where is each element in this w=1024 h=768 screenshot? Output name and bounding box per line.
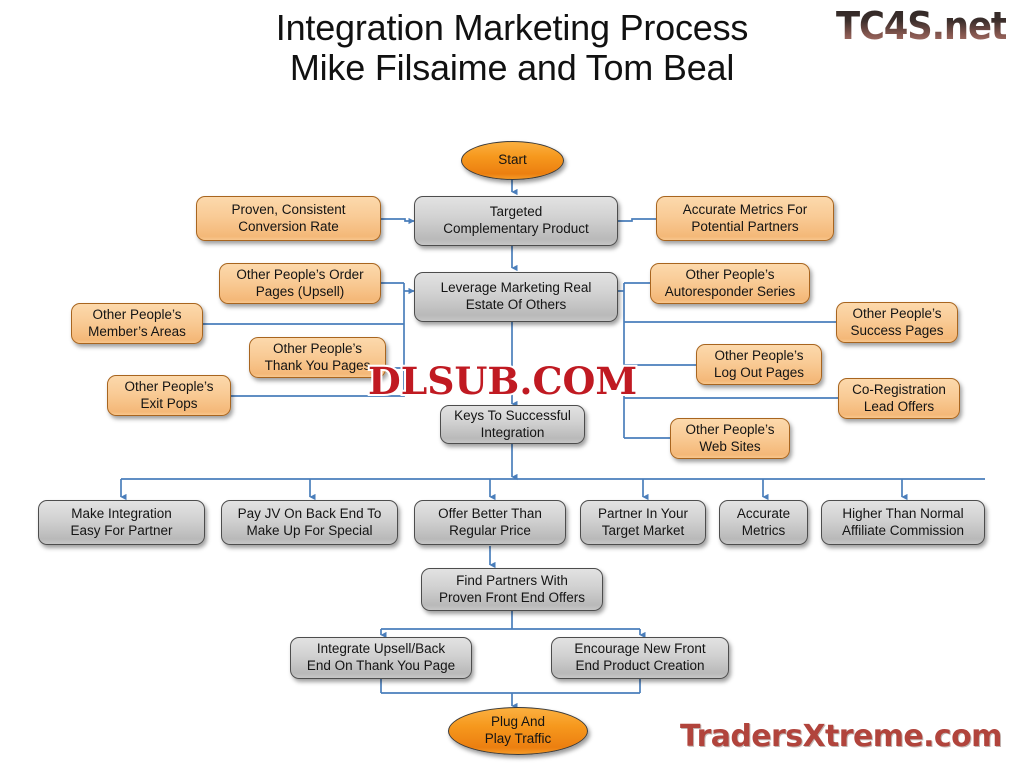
dlsub-watermark: DLSUB.COM	[368, 359, 637, 403]
node-offer-line2: Regular Price	[449, 523, 531, 538]
node-co-registration-line2: Lead Offers	[864, 399, 934, 414]
node-exit-pops-line2: Exit Pops	[140, 396, 197, 411]
node-higher-affiliate-commission[interactable]: Higher Than Normal Affiliate Commission	[821, 500, 985, 545]
node-other-peoples-log-out-pages[interactable]: Other People’s Log Out Pages	[696, 344, 822, 385]
node-order-pages-line1: Other People’s Order	[236, 267, 363, 282]
node-offer-line1: Offer Better Than	[438, 506, 542, 521]
node-web-sites-line2: Web Sites	[699, 439, 760, 454]
node-encourage-new-front-end-product[interactable]: Encourage New Front End Product Creation	[551, 637, 729, 679]
node-members-areas-line1: Other People’s	[92, 307, 181, 322]
node-higher-line1: Higher Than Normal	[842, 506, 963, 521]
node-easy-line2: Easy For Partner	[70, 523, 172, 538]
node-start-line1: Start	[498, 152, 527, 167]
node-co-registration-line1: Co-Registration	[852, 382, 946, 397]
node-accurate-line1: Accurate	[737, 506, 790, 521]
node-accurate-metrics[interactable]: Accurate Metrics	[719, 500, 808, 545]
node-logout-pages-line1: Other People’s	[714, 348, 803, 363]
node-plug-line2: Play Traffic	[485, 731, 552, 746]
node-leverage-line2: Estate Of Others	[466, 297, 567, 312]
node-order-pages-line2: Pages (Upsell)	[256, 284, 345, 299]
node-autoresponder-line1: Other People’s	[685, 267, 774, 282]
node-autoresponder-line2: Autoresponder Series	[665, 284, 796, 299]
node-partner-line2: Target Market	[602, 523, 685, 538]
node-other-peoples-members-areas[interactable]: Other People’s Member’s Areas	[71, 303, 203, 344]
node-proven-conversion-rate[interactable]: Proven, Consistent Conversion Rate	[196, 196, 381, 241]
node-targeted-complementary-product[interactable]: Targeted Complementary Product	[414, 196, 618, 246]
node-other-peoples-success-pages[interactable]: Other People’s Success Pages	[836, 302, 958, 343]
node-pay-jv-back-end[interactable]: Pay JV On Back End To Make Up For Specia…	[221, 500, 398, 545]
node-other-peoples-order-pages[interactable]: Other People’s Order Pages (Upsell)	[219, 263, 381, 304]
node-success-pages-line2: Success Pages	[850, 323, 943, 338]
node-make-integration-easy[interactable]: Make Integration Easy For Partner	[38, 500, 205, 545]
node-easy-line1: Make Integration	[71, 506, 172, 521]
node-partner-in-your-target-market[interactable]: Partner In Your Target Market	[580, 500, 706, 545]
node-co-registration-lead-offers[interactable]: Co-Registration Lead Offers	[838, 378, 960, 419]
node-other-peoples-exit-pops[interactable]: Other People’s Exit Pops	[107, 375, 231, 416]
node-other-peoples-thank-you-pages[interactable]: Other People’s Thank You Pages	[249, 337, 386, 378]
node-keys-line1: Keys To Successful	[454, 408, 571, 423]
node-other-peoples-web-sites[interactable]: Other People’s Web Sites	[670, 418, 790, 459]
node-leverage-marketing-real-estate[interactable]: Leverage Marketing Real Estate Of Others	[414, 272, 618, 322]
node-success-pages-line1: Other People’s	[852, 306, 941, 321]
node-targeted-line1: Targeted	[490, 204, 543, 219]
node-targeted-line2: Complementary Product	[443, 221, 589, 236]
node-other-peoples-autoresponder-series[interactable]: Other People’s Autoresponder Series	[650, 263, 810, 304]
node-plug-line1: Plug And	[491, 714, 545, 729]
node-integrate-line2: End On Thank You Page	[307, 658, 455, 673]
node-leverage-line1: Leverage Marketing Real	[441, 280, 592, 295]
node-metrics-line1: Accurate Metrics For	[683, 202, 808, 217]
node-payjv-line2: Make Up For Special	[246, 523, 372, 538]
node-logout-pages-line2: Log Out Pages	[714, 365, 804, 380]
node-keys-to-successful-integration[interactable]: Keys To Successful Integration	[440, 405, 585, 444]
node-encourage-line1: Encourage New Front	[574, 641, 705, 656]
node-accurate-metrics-partners[interactable]: Accurate Metrics For Potential Partners	[656, 196, 834, 241]
node-partner-line1: Partner In Your	[598, 506, 688, 521]
title-line-2: Mike Filsaime and Tom Beal	[0, 48, 1024, 88]
tradersxtreme-logo: TradersXtreme.com	[680, 719, 1002, 754]
node-find-partners-line2: Proven Front End Offers	[439, 590, 585, 605]
node-accurate-line2: Metrics	[742, 523, 786, 538]
node-start[interactable]: Start	[461, 141, 564, 180]
node-encourage-line2: End Product Creation	[575, 658, 704, 673]
node-thank-you-line1: Other People’s	[273, 341, 362, 356]
node-find-partners-line1: Find Partners With	[456, 573, 568, 588]
node-integrate-line1: Integrate Upsell/Back	[317, 641, 445, 656]
node-proven-line1: Proven, Consistent	[231, 202, 345, 217]
tc4s-logo: TC4S.net	[836, 4, 1007, 48]
node-proven-line2: Conversion Rate	[238, 219, 339, 234]
node-members-areas-line2: Member’s Areas	[88, 324, 186, 339]
node-payjv-line1: Pay JV On Back End To	[238, 506, 382, 521]
node-offer-better-than-regular-price[interactable]: Offer Better Than Regular Price	[414, 500, 566, 545]
node-integrate-upsell-thank-you-page[interactable]: Integrate Upsell/Back End On Thank You P…	[290, 637, 472, 679]
node-higher-line2: Affiliate Commission	[842, 523, 964, 538]
node-keys-line2: Integration	[481, 425, 545, 440]
node-thank-you-line2: Thank You Pages	[265, 358, 371, 373]
node-web-sites-line1: Other People’s	[685, 422, 774, 437]
node-find-partners-proven-front-end[interactable]: Find Partners With Proven Front End Offe…	[421, 568, 603, 611]
node-exit-pops-line1: Other People’s	[124, 379, 213, 394]
node-metrics-line2: Potential Partners	[691, 219, 798, 234]
flowchart-canvas: Integration Marketing Process Mike Filsa…	[0, 0, 1024, 768]
node-plug-and-play-traffic[interactable]: Plug And Play Traffic	[448, 707, 588, 755]
